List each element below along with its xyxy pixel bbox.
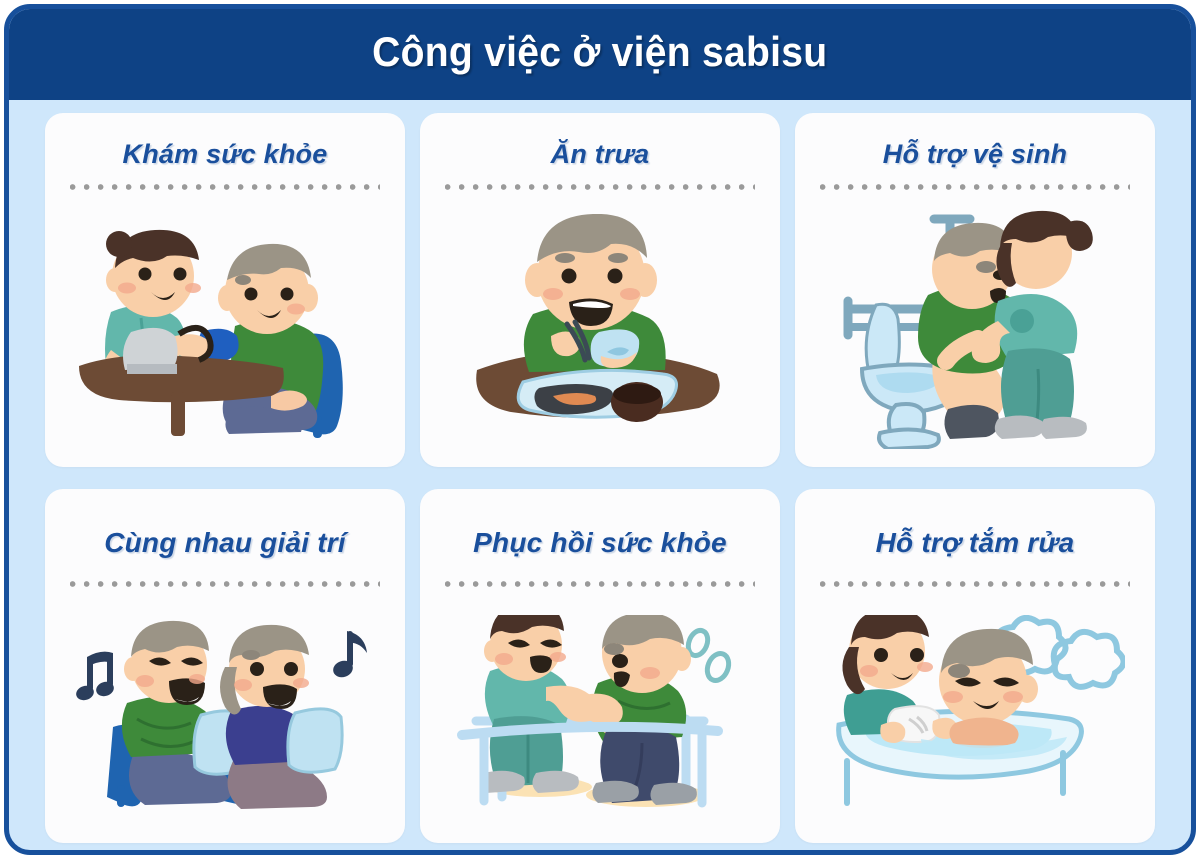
poster-frame: Công việc ở viện sabisu Khám sức khỏe bbox=[4, 4, 1196, 855]
page-title: Công việc ở viện sabisu bbox=[372, 28, 827, 76]
sweat-drops-icon bbox=[685, 628, 733, 684]
poster-page: Công việc ở viện sabisu Khám sức khỏe bbox=[0, 0, 1200, 859]
card-title: Khám sức khỏe bbox=[123, 139, 328, 170]
card-title: Hỗ trợ tắm rửa bbox=[876, 527, 1075, 559]
group-recreation-illustration bbox=[45, 587, 405, 843]
card-lunch[interactable]: Ăn trưa bbox=[420, 113, 780, 467]
music-note-icon bbox=[74, 652, 115, 703]
card-grid: Khám sức khỏe bbox=[45, 113, 1155, 843]
health-checkup-illustration bbox=[45, 190, 405, 467]
card-bathing-assistance[interactable]: Hỗ trợ tắm rửa bbox=[795, 489, 1155, 843]
card-rehabilitation[interactable]: Phục hồi sức khỏe bbox=[420, 489, 780, 843]
card-title: Hỗ trợ vệ sinh bbox=[883, 139, 1067, 170]
card-toilet-assistance[interactable]: Hỗ trợ vệ sinh bbox=[795, 113, 1155, 467]
card-title: Phục hồi sức khỏe bbox=[473, 527, 727, 559]
card-title: Ăn trưa bbox=[551, 139, 650, 170]
bathing-assistance-illustration bbox=[795, 587, 1155, 843]
music-note-icon bbox=[331, 631, 367, 680]
card-title: Cùng nhau giải trí bbox=[104, 527, 346, 559]
rehabilitation-illustration bbox=[420, 587, 780, 843]
lunch-meal-illustration bbox=[420, 190, 780, 467]
toilet-assistance-illustration bbox=[795, 190, 1155, 467]
poster-header: Công việc ở viện sabisu bbox=[4, 4, 1196, 100]
card-recreation[interactable]: Cùng nhau giải trí bbox=[45, 489, 405, 843]
card-health-checkup[interactable]: Khám sức khỏe bbox=[45, 113, 405, 467]
